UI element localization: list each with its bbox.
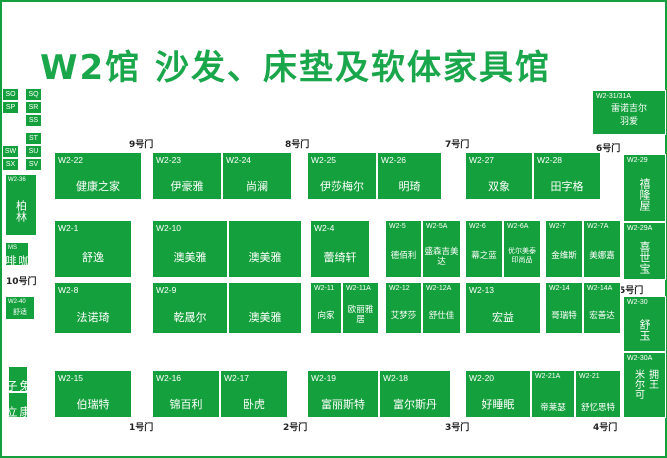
page-title: W2馆 沙发、床垫及软体家具馆 [40, 40, 551, 89]
gate-8: 8号门 [285, 137, 309, 150]
gate-4: 4号门 [593, 420, 617, 433]
booth-code: W2-10 [156, 223, 181, 233]
booth-w2-30a[interactable]: W2-30A 米尔可 拥王 [623, 352, 666, 418]
booth-code: W2-31/31A [596, 93, 631, 101]
booth-name: 舒适 [6, 308, 34, 316]
booth-code: W2-29 [627, 157, 648, 165]
booth-code: W2-20 [469, 373, 494, 383]
booth-code: W2-6 [469, 223, 486, 231]
booth-code: W2-23 [156, 155, 181, 165]
booth-w2-9[interactable]: W2-9 乾晟尔 [152, 282, 228, 334]
gate-10: 10号门 [6, 274, 37, 287]
booth-w2-6a[interactable]: W2-6A 优尔美泰印尚品 [503, 220, 541, 278]
booth-w2-12a[interactable]: W2-12A 舒仕佳 [422, 282, 461, 334]
booth-code: W2-14A [587, 285, 612, 293]
booth-w2-29a[interactable]: W2-29A 喜世宝 [623, 222, 666, 280]
booth-code: W2-7 [549, 223, 566, 231]
booth-w2-26[interactable]: W2-26 明琦 [377, 152, 442, 200]
booth-w2-24[interactable]: W2-24 尚澜 [222, 152, 292, 200]
booth-code: W2-7A [587, 223, 608, 231]
booth-code: W2-14 [549, 285, 570, 293]
booth-name: 伊莎梅尔 [308, 180, 376, 193]
booth-name: 伯瑞特 [55, 398, 131, 411]
booth-name: 宏益 [466, 311, 540, 324]
booth-code: W2-13 [469, 285, 494, 295]
booth-w2-10b[interactable]: 澳美雅 [228, 220, 302, 278]
booth-ms-coffee[interactable]: MS 咖啡 [5, 242, 29, 266]
booth-w2-22[interactable]: W2-22 健康之家 [54, 152, 142, 200]
gate-3: 3号门 [445, 420, 469, 433]
booth-w2-31-31a[interactable]: W2-31/31A 雷诺吉尔 羽爱 [592, 90, 666, 135]
booth-name: 盛森吉美达 [423, 247, 460, 267]
booth-code: W2-5A [426, 223, 447, 231]
booth-code: W2-40 [8, 299, 26, 306]
booth-name: 米尔可 [632, 369, 644, 415]
booth-name: 双象 [466, 180, 532, 193]
booth-name: 澳美雅 [229, 251, 301, 264]
booth-w2-4[interactable]: W2-4 蕾绮轩 [310, 220, 370, 278]
booth-code: W2-36 [8, 177, 26, 184]
booth-name: 喜世宝 [624, 237, 665, 277]
side-tag-sp[interactable]: SP [2, 101, 19, 114]
booth-w2-30[interactable]: W2-30 舒玉 [623, 296, 666, 352]
booth-name: 咖啡 [6, 257, 28, 263]
side-tag-so[interactable]: SO [2, 88, 19, 101]
booth-code: W2-1 [58, 223, 78, 233]
booth-code: W2-24 [226, 155, 251, 165]
booth-name: 舒忆思特 [576, 403, 620, 413]
booth-code: W2-17 [224, 373, 249, 383]
booth-name: 澳美雅 [229, 311, 301, 324]
booth-name: 卧虎 [221, 398, 287, 411]
side-tag-sw[interactable]: SW [2, 145, 19, 158]
gate-2: 2号门 [283, 420, 307, 433]
booth-w2-5a[interactable]: W2-5A 盛森吉美达 [422, 220, 461, 278]
booth-name: 锦百利 [153, 398, 219, 411]
booth-name: 欧丽雅居 [343, 305, 378, 325]
booth-code: W2-30A [627, 355, 652, 363]
booth-w2-11[interactable]: W2-11 向家 [310, 282, 342, 334]
booth-name: 法诺琦 [55, 311, 131, 324]
booth-kangli[interactable]: 康立 [8, 392, 28, 418]
booth-w2-13[interactable]: W2-13 宏益 [465, 282, 541, 334]
booth-name: 帝莱瑟 [532, 403, 574, 413]
booth-w2-17[interactable]: W2-17 卧虎 [220, 370, 288, 418]
booth-code: W2-9 [156, 285, 176, 295]
booth-w2-6[interactable]: W2-6 幕之蓝 [465, 220, 503, 278]
gate-1: 1号门 [129, 420, 153, 433]
side-tag-su[interactable]: SU [25, 145, 42, 158]
booth-code: W2-30 [627, 299, 648, 307]
booth-w2-27[interactable]: W2-27 双象 [465, 152, 533, 200]
booth-code: W2-6A [507, 223, 528, 231]
floor-plan-canvas: W2馆 沙发、床垫及软体家具馆 SO SP SQ SR SS ST SU SV … [0, 0, 667, 458]
booth-w2-36[interactable]: W2-36 柏林 [5, 174, 37, 236]
booth-name: 兔子 [9, 381, 27, 389]
booth-name: 富尔斯丹 [380, 398, 450, 411]
booth-name: 柏林 [6, 189, 36, 233]
booth-name: 幕之蓝 [466, 251, 502, 261]
booth-code: W2-11 [314, 285, 334, 293]
booth-code: W2-18 [383, 373, 408, 383]
booth-name-2: 拥王 [646, 369, 658, 415]
booth-code: W2-26 [381, 155, 406, 165]
booth-w2-16[interactable]: W2-16 锦百利 [152, 370, 220, 418]
booth-name-columns: 米尔可 拥王 [624, 369, 665, 415]
booth-w2-11a[interactable]: W2-11A 欧丽雅居 [342, 282, 379, 334]
booth-code: W2-27 [469, 155, 494, 165]
booth-w2-20[interactable]: W2-20 好睡眠 [465, 370, 531, 418]
booth-name: 舒逸 [55, 251, 131, 264]
booth-code: W2-8 [58, 285, 78, 295]
booth-name: 德佰利 [386, 251, 421, 261]
booth-w2-28[interactable]: W2-28 田字格 [533, 152, 601, 200]
booth-name: 艾梦莎 [386, 311, 421, 321]
booth-code: W2-21 [579, 373, 600, 381]
booth-name: 健康之家 [55, 180, 141, 193]
booth-code: W2-25 [311, 155, 336, 165]
side-tag-sx[interactable]: SX [2, 158, 19, 171]
booth-name: 美娜嘉 [584, 251, 620, 261]
booth-name: 宏善达 [584, 311, 620, 321]
booth-code: W2-16 [156, 373, 181, 383]
booth-code: MS [8, 245, 17, 252]
booth-code: W2-12 [389, 285, 410, 293]
booth-w2-8[interactable]: W2-8 法诺琦 [54, 282, 132, 334]
booth-name: 富丽斯特 [308, 398, 378, 411]
booth-code: W2-28 [537, 155, 562, 165]
gate-9: 9号门 [129, 137, 153, 150]
side-tag-ss[interactable]: SS [25, 114, 42, 127]
booth-w2-21[interactable]: W2-21 舒忆思特 [575, 370, 621, 418]
booth-small-rabbit[interactable]: 兔子 [8, 366, 28, 392]
booth-w2-9b[interactable]: 澳美雅 [228, 282, 302, 334]
booth-name: 哥瑞特 [546, 311, 582, 321]
gate-7: 7号门 [445, 137, 469, 150]
booth-name: 雷诺吉尔 [593, 104, 665, 115]
booth-w2-1[interactable]: W2-1 舒逸 [54, 220, 132, 278]
side-tag-sr[interactable]: SR [25, 101, 42, 114]
booth-name: 金维斯 [546, 251, 582, 261]
booth-w2-14a[interactable]: W2-14A 宏善达 [583, 282, 621, 334]
booth-w2-25[interactable]: W2-25 伊莎梅尔 [307, 152, 377, 200]
booth-code: W2-22 [58, 155, 83, 165]
booth-name: 明琦 [378, 180, 441, 193]
booth-code: W2-19 [311, 373, 336, 383]
booth-name: 田字格 [534, 180, 600, 193]
booth-w2-23[interactable]: W2-23 伊豪雅 [152, 152, 222, 200]
booth-name: 康立 [9, 407, 27, 415]
booth-name: 舒玉 [624, 311, 665, 349]
booth-code: W2-29A [627, 225, 652, 233]
booth-name: 伊豪雅 [153, 180, 221, 193]
booth-w2-18[interactable]: W2-18 富尔斯丹 [379, 370, 451, 418]
booth-w2-7a[interactable]: W2-7A 美娜嘉 [583, 220, 621, 278]
side-tag-st[interactable]: ST [25, 132, 42, 145]
booth-code: W2-21A [535, 373, 560, 381]
booth-name-2: 羽爱 [593, 117, 665, 128]
booth-code: W2-5 [389, 223, 406, 231]
booth-name: 蕾绮轩 [311, 251, 369, 264]
booth-w2-40[interactable]: W2-40 舒适 [5, 296, 35, 320]
booth-name: 舒仕佳 [423, 311, 460, 321]
booth-name: 澳美雅 [153, 251, 227, 264]
booth-name: 优尔美泰印尚品 [504, 247, 540, 265]
booth-w2-10[interactable]: W2-10 澳美雅 [152, 220, 228, 278]
booth-w2-12[interactable]: W2-12 艾梦莎 [385, 282, 422, 334]
booth-w2-7[interactable]: W2-7 金维斯 [545, 220, 583, 278]
booth-w2-15[interactable]: W2-15 伯瑞特 [54, 370, 132, 418]
booth-w2-19[interactable]: W2-19 富丽斯特 [307, 370, 379, 418]
gate-5: 5号门 [619, 283, 643, 296]
booth-name: 向家 [311, 311, 341, 321]
booth-w2-29[interactable]: W2-29 禧隆屋 [623, 154, 666, 222]
booth-code: W2-12A [426, 285, 451, 293]
booth-w2-21a[interactable]: W2-21A 帝莱瑟 [531, 370, 575, 418]
side-tag-sv[interactable]: SV [25, 158, 42, 171]
booth-code: W2-15 [58, 373, 83, 383]
side-tag-sq[interactable]: SQ [25, 88, 42, 101]
booth-w2-5[interactable]: W2-5 德佰利 [385, 220, 422, 278]
booth-name: 乾晟尔 [153, 311, 227, 324]
booth-code: W2-11A [346, 285, 371, 293]
booth-name: 好睡眠 [466, 398, 530, 411]
booth-w2-14[interactable]: W2-14 哥瑞特 [545, 282, 583, 334]
booth-code: W2-4 [314, 223, 334, 233]
booth-name: 尚澜 [223, 180, 291, 193]
booth-name: 禧隆屋 [624, 169, 665, 219]
